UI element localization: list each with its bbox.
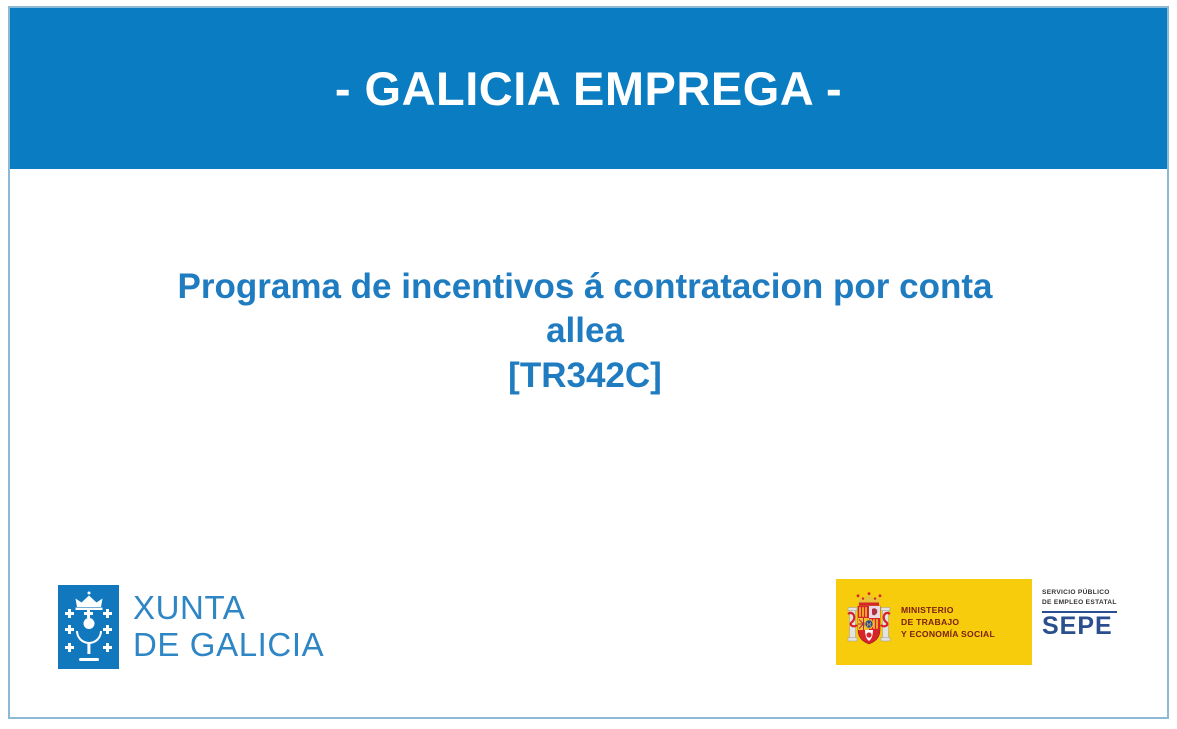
xunta-de-galicia-logo: XUNTA DE GALICIA bbox=[58, 585, 324, 669]
cross-icon bbox=[65, 609, 74, 618]
slide-body: Programa de incentivos á contratacion po… bbox=[10, 169, 1167, 717]
ministerio-text: MINISTERIO DE TRABAJO Y ECONOMÍA SOCIAL bbox=[901, 604, 995, 641]
program-subtitle: Programa de incentivos á contratacion po… bbox=[60, 265, 1110, 398]
cross-icon bbox=[65, 643, 74, 652]
subtitle-line-2: allea bbox=[60, 309, 1110, 353]
sepe-ministerio-logo: MINISTERIO DE TRABAJO Y ECONOMÍA SOCIAL … bbox=[836, 579, 1124, 665]
xunta-wordmark-line-2: DE GALICIA bbox=[133, 627, 324, 664]
subtitle-line-1: Programa de incentivos á contratacion po… bbox=[60, 265, 1110, 309]
ministerio-line-1: MINISTERIO bbox=[901, 604, 995, 616]
host-icon bbox=[83, 618, 94, 629]
sepe-caption-line-1: SERVICIO PÚBLICO bbox=[1042, 588, 1117, 598]
cross-icon bbox=[84, 609, 93, 618]
chalice-icon bbox=[76, 631, 102, 661]
ministerio-block: MINISTERIO DE TRABAJO Y ECONOMÍA SOCIAL bbox=[836, 579, 1032, 665]
xunta-wordmark-line-1: XUNTA bbox=[133, 590, 324, 627]
cross-icon bbox=[65, 625, 74, 634]
page-title: - GALICIA EMPREGA - bbox=[335, 64, 842, 113]
crown-icon bbox=[73, 591, 104, 611]
ministerio-line-2: DE TRABAJO bbox=[901, 616, 995, 628]
galicia-chalice-crown-emblem bbox=[58, 585, 119, 669]
sepe-acronym: SEPE bbox=[1042, 614, 1117, 639]
header-band: - GALICIA EMPREGA - bbox=[10, 8, 1167, 169]
xunta-wordmark: XUNTA DE GALICIA bbox=[133, 590, 324, 664]
sepe-caption: SERVICIO PÚBLICO DE EMPLEO ESTATAL bbox=[1042, 588, 1117, 607]
cross-icon bbox=[103, 625, 112, 634]
sepe-block: SERVICIO PÚBLICO DE EMPLEO ESTATAL SEPE bbox=[1032, 579, 1125, 665]
spain-coat-of-arms-icon bbox=[846, 592, 892, 652]
cross-icon bbox=[103, 643, 112, 652]
ministerio-line-3: Y ECONOMÍA SOCIAL bbox=[901, 628, 995, 640]
procedure-code: [TR342C] bbox=[60, 354, 1110, 398]
slide-frame: - GALICIA EMPREGA - Programa de incentiv… bbox=[8, 6, 1169, 719]
cross-icon bbox=[103, 609, 112, 618]
sepe-caption-line-2: DE EMPLEO ESTATAL bbox=[1042, 598, 1117, 608]
